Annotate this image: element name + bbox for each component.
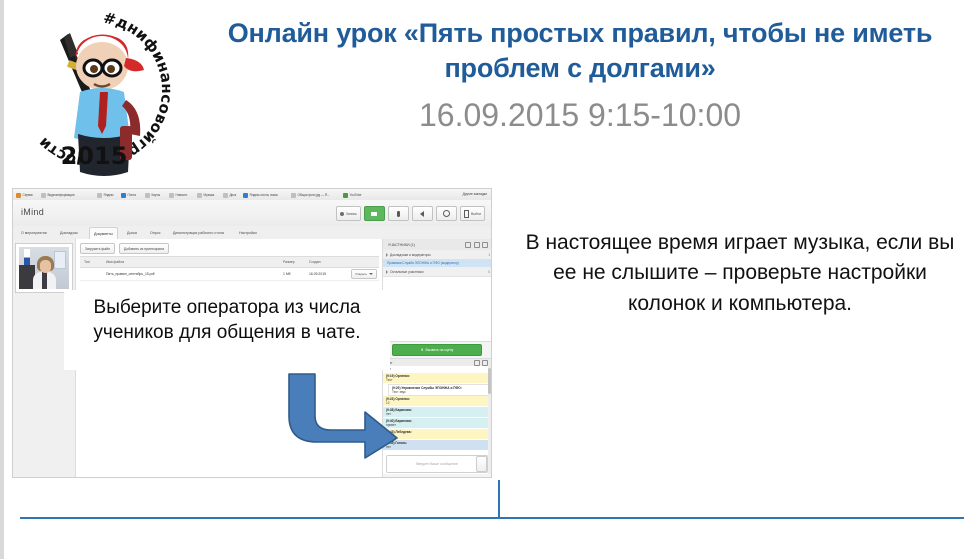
chat-message: (9:20) Управление Службы ЭПОНЖА и ПФО:Те… [388, 384, 491, 396]
upload-file-button[interactable]: Загрузить файл [80, 243, 115, 254]
table-row[interactable]: Пять_правил_сентябрь_15.pdf 1 Мб 16.09.2… [80, 268, 379, 281]
bookmark-item[interactable]: Почта [121, 192, 136, 199]
filter-icon[interactable] [474, 242, 480, 248]
cell-created: 16.09.2015 [309, 272, 343, 276]
record-icon [340, 212, 344, 216]
bookmark-item[interactable]: Яндекс-почта, поиск [243, 192, 278, 199]
blue-arrow-icon [283, 372, 401, 460]
svg-text:2015: 2015 [61, 142, 128, 170]
horizontal-divider [20, 517, 964, 519]
col-created: Создан [309, 260, 343, 264]
bookmark-item[interactable]: Новости [169, 192, 187, 199]
settings-button[interactable] [436, 206, 457, 221]
bookmark-item[interactable]: Диск [223, 192, 236, 199]
callout-text: Выберите оператора из числа учеников для… [62, 295, 392, 346]
person-body [33, 272, 56, 289]
cell-name: Пять_правил_сентябрь_15.pdf [106, 272, 283, 276]
vertical-divider [498, 480, 500, 518]
cell-size: 1 Мб [283, 272, 309, 276]
chevron-right-icon [386, 270, 388, 274]
documents-actions: Загрузить файл Добавить из принтскрина [80, 243, 169, 254]
add-from-clipboard-button[interactable]: Добавить из принтскрина [119, 243, 169, 254]
bookmark-item[interactable]: Сервис [16, 192, 33, 199]
slide-title: Онлайн урок «Пять простых правил, чтобы … [190, 16, 970, 85]
app-tab-bar: О мероприятии Докладчик Документы Доска … [13, 226, 491, 240]
music-note-text: В настоящее время играет музыка, если вы… [520, 228, 960, 319]
exit-icon [464, 210, 470, 218]
speaker-button[interactable] [412, 206, 433, 221]
gear-icon[interactable] [482, 242, 488, 248]
participants-title: УЧАСТНИКИ (1) [383, 243, 415, 247]
chat-input[interactable]: Введите Ваше сообщение [386, 455, 488, 473]
open-document-button[interactable]: Открыть [351, 269, 377, 279]
stage-icon: ⬆ [421, 348, 424, 352]
documents-table: Тип Имя файла Размер Создан Пять_правил_… [80, 256, 379, 281]
speaker-icon [420, 211, 424, 217]
col-size: Размер [283, 260, 309, 264]
exit-button[interactable]: Выйти [460, 206, 485, 221]
wall-board-decor [54, 251, 66, 269]
send-message-button[interactable] [476, 456, 487, 472]
tab-poll[interactable]: Опрос [146, 227, 165, 239]
camera-button[interactable] [364, 206, 385, 221]
sort-icon[interactable] [465, 242, 471, 248]
col-type: Тип [80, 260, 106, 264]
microphone-icon [397, 211, 400, 217]
group-attendees[interactable]: Остальные участники 0 [383, 267, 492, 277]
chat-scrollbar[interactable] [488, 366, 491, 474]
microphone-button[interactable] [388, 206, 409, 221]
chevron-right-icon [386, 253, 388, 257]
app-logo: iMind [21, 207, 44, 217]
cell-actions: Открыть [343, 269, 379, 279]
person-face [40, 260, 51, 273]
table-header-row: Тип Имя файла Размер Создан [80, 256, 379, 268]
record-button[interactable]: Запись [336, 206, 361, 221]
bookmark-item[interactable]: Музыка [197, 192, 214, 199]
bookmark-item[interactable]: Карты [145, 192, 160, 199]
slide-datetime: 16.09.2015 9:15-10:00 [190, 96, 970, 134]
webcam-tile[interactable] [15, 243, 73, 293]
tab-about[interactable]: О мероприятии [17, 227, 51, 239]
bookmark-item[interactable]: Видеоинформация [41, 192, 74, 199]
bookmark-item[interactable]: YouTube [343, 192, 361, 199]
bookmark-other-folder[interactable]: Другие закладки [461, 192, 487, 196]
participant-row-selected[interactable]: Правовая Служба ЭПОНЖА и ПФО (модератор) [383, 259, 492, 267]
tab-settings[interactable]: Настройки [235, 227, 261, 239]
camera-icon [371, 212, 377, 216]
logo: #днифинансовойграмотности 2015 [8, 4, 180, 176]
bookmark-item[interactable]: Яндекс [97, 192, 114, 199]
tab-board[interactable]: Доска [123, 227, 141, 239]
tab-desktop-share[interactable]: Демонстрация рабочего стола [169, 227, 228, 239]
tab-speaker[interactable]: Докладчик [56, 227, 82, 239]
participants-empty-area [383, 277, 491, 342]
call-to-stage-button[interactable]: ⬆ Вызвать на сцену [392, 344, 482, 356]
left-edge-strip [0, 0, 4, 559]
bookmark-item[interactable]: Общая фото.jpg — Я... [291, 192, 329, 199]
col-name[interactable]: Имя файла [106, 260, 283, 264]
participants-header-icons [465, 242, 488, 248]
chevron-down-icon [369, 273, 373, 275]
app-header: iMind Запись Выйти [13, 200, 491, 227]
gear-icon [443, 210, 450, 217]
app-header-buttons: Запись Выйти [336, 206, 485, 221]
webcam-video [19, 247, 69, 289]
